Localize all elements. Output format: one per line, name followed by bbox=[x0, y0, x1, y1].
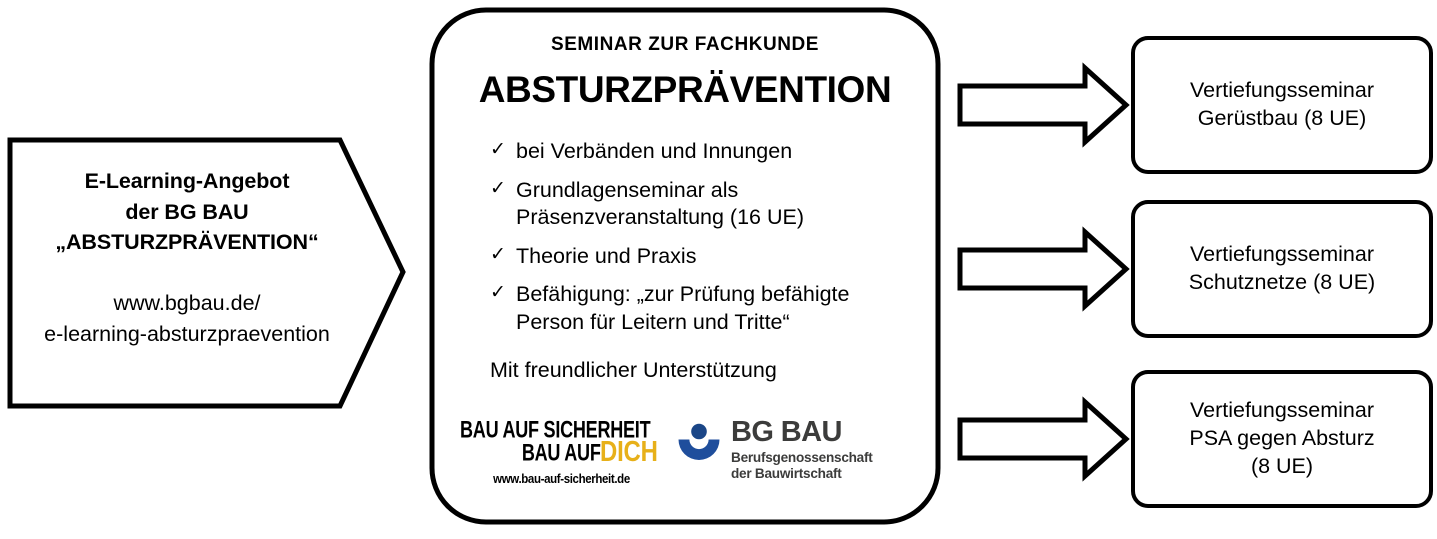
list-item-label: bei Verbänden und Innungen bbox=[516, 139, 792, 163]
right-box-text: Vertiefungsseminar Gerüstbau (8 UE) bbox=[1180, 77, 1384, 133]
left-url[interactable]: www.bgbau.de/ e-learning-absturzpraevent… bbox=[22, 288, 352, 350]
left-elearning-block[interactable]: E-Learning-Angebot der BG BAU „ABSTURZPR… bbox=[8, 138, 404, 410]
sponsor-logos: BAU AUF SICHERHEIT BAU AUF DICH www.bau-… bbox=[460, 418, 910, 508]
check-icon: ✓ bbox=[490, 177, 506, 201]
check-icon: ✓ bbox=[490, 138, 506, 162]
seminar-kicker: SEMINAR ZUR FACHKUNDE bbox=[460, 34, 910, 56]
list-item-label: Grundlagenseminar als Präsenzveranstaltu… bbox=[516, 178, 804, 230]
check-icon: ✓ bbox=[490, 243, 506, 267]
vertiefungsseminar-schutznetze-box[interactable]: Vertiefungsseminar Schutznetze (8 UE) bbox=[1131, 200, 1433, 338]
bas-line2-gold: DICH bbox=[600, 437, 658, 466]
right-box-line2: PSA gegen Absturz bbox=[1189, 425, 1374, 453]
diagram-canvas: E-Learning-Angebot der BG BAU „ABSTURZPR… bbox=[0, 0, 1437, 539]
left-block-text: E-Learning-Angebot der BG BAU „ABSTURZPR… bbox=[22, 166, 352, 350]
center-box-content: SEMINAR ZUR FACHKUNDE ABSTURZPRÄVENTION … bbox=[430, 8, 940, 524]
bg-bau-wordmark-group: BG BAU Berufsgenossenschaft der Bauwirts… bbox=[731, 418, 873, 482]
right-box-line1: Vertiefungsseminar bbox=[1189, 241, 1375, 269]
bas-line2-black: BAU AUF bbox=[521, 441, 600, 465]
left-heading-line1: E-Learning-Angebot bbox=[22, 166, 352, 197]
right-box-line1: Vertiefungsseminar bbox=[1190, 77, 1374, 105]
left-heading-line3: „ABSTURZPRÄVENTION“ bbox=[22, 227, 352, 258]
right-box-line2: Schutznetze (8 UE) bbox=[1189, 269, 1375, 297]
bg-bau-wordmark: BG BAU bbox=[731, 418, 873, 447]
arrow-to-psa bbox=[956, 400, 1128, 478]
list-item-label: Theorie und Praxis bbox=[516, 244, 696, 268]
list-item: ✓ bei Verbänden und Innungen bbox=[490, 138, 910, 166]
bg-bau-subtitle-line2: der Bauwirtschaft bbox=[731, 466, 873, 482]
left-url-line1: www.bgbau.de/ bbox=[22, 288, 352, 319]
center-seminar-box[interactable]: SEMINAR ZUR FACHKUNDE ABSTURZPRÄVENTION … bbox=[430, 8, 940, 524]
arrow-to-geruestbau bbox=[956, 66, 1128, 144]
left-heading-line2: der BG BAU bbox=[22, 197, 352, 228]
list-item: ✓ Grundlagenseminar als Präsenzveranstal… bbox=[490, 177, 910, 232]
right-box-line2: Gerüstbau (8 UE) bbox=[1190, 105, 1374, 133]
check-icon: ✓ bbox=[490, 281, 506, 305]
bg-bau-bowl-icon bbox=[676, 420, 722, 460]
list-item: ✓ Befähigung: „zur Prüfung befähigte Per… bbox=[490, 281, 910, 336]
seminar-title: ABSTURZPRÄVENTION bbox=[460, 69, 910, 111]
vertiefungsseminar-geruestbau-box[interactable]: Vertiefungsseminar Gerüstbau (8 UE) bbox=[1131, 36, 1433, 174]
seminar-feature-list: ✓ bei Verbänden und Innungen ✓ Grundlage… bbox=[460, 138, 910, 336]
list-item-label: Befähigung: „zur Prüfung befähigte Perso… bbox=[516, 282, 849, 334]
right-box-line3: (8 UE) bbox=[1189, 453, 1374, 481]
bg-bau-logo[interactable]: BG BAU Berufsgenossenschaft der Bauwirts… bbox=[676, 418, 886, 482]
right-box-text: Vertiefungsseminar PSA gegen Absturz (8 … bbox=[1179, 397, 1384, 481]
vertiefungsseminar-psa-box[interactable]: Vertiefungsseminar PSA gegen Absturz (8 … bbox=[1131, 370, 1433, 508]
list-item: ✓ Theorie und Praxis bbox=[490, 243, 910, 271]
right-box-line1: Vertiefungsseminar bbox=[1189, 397, 1374, 425]
left-url-line2: e-learning-absturzpraevention bbox=[22, 319, 352, 350]
bau-auf-sicherheit-logo[interactable]: BAU AUF SICHERHEIT BAU AUF DICH www.bau-… bbox=[460, 418, 663, 486]
arrow-to-schutznetze bbox=[956, 230, 1128, 308]
left-heading: E-Learning-Angebot der BG BAU „ABSTURZPR… bbox=[22, 166, 352, 258]
right-box-text: Vertiefungsseminar Schutznetze (8 UE) bbox=[1179, 241, 1385, 297]
bas-url[interactable]: www.bau-auf-sicherheit.de bbox=[468, 472, 655, 486]
bas-line2: BAU AUF DICH bbox=[460, 441, 663, 463]
support-line: Mit freundlicher Unterstützung bbox=[460, 358, 910, 383]
bg-bau-subtitle-line1: Berufsgenossenschaft bbox=[731, 450, 873, 466]
